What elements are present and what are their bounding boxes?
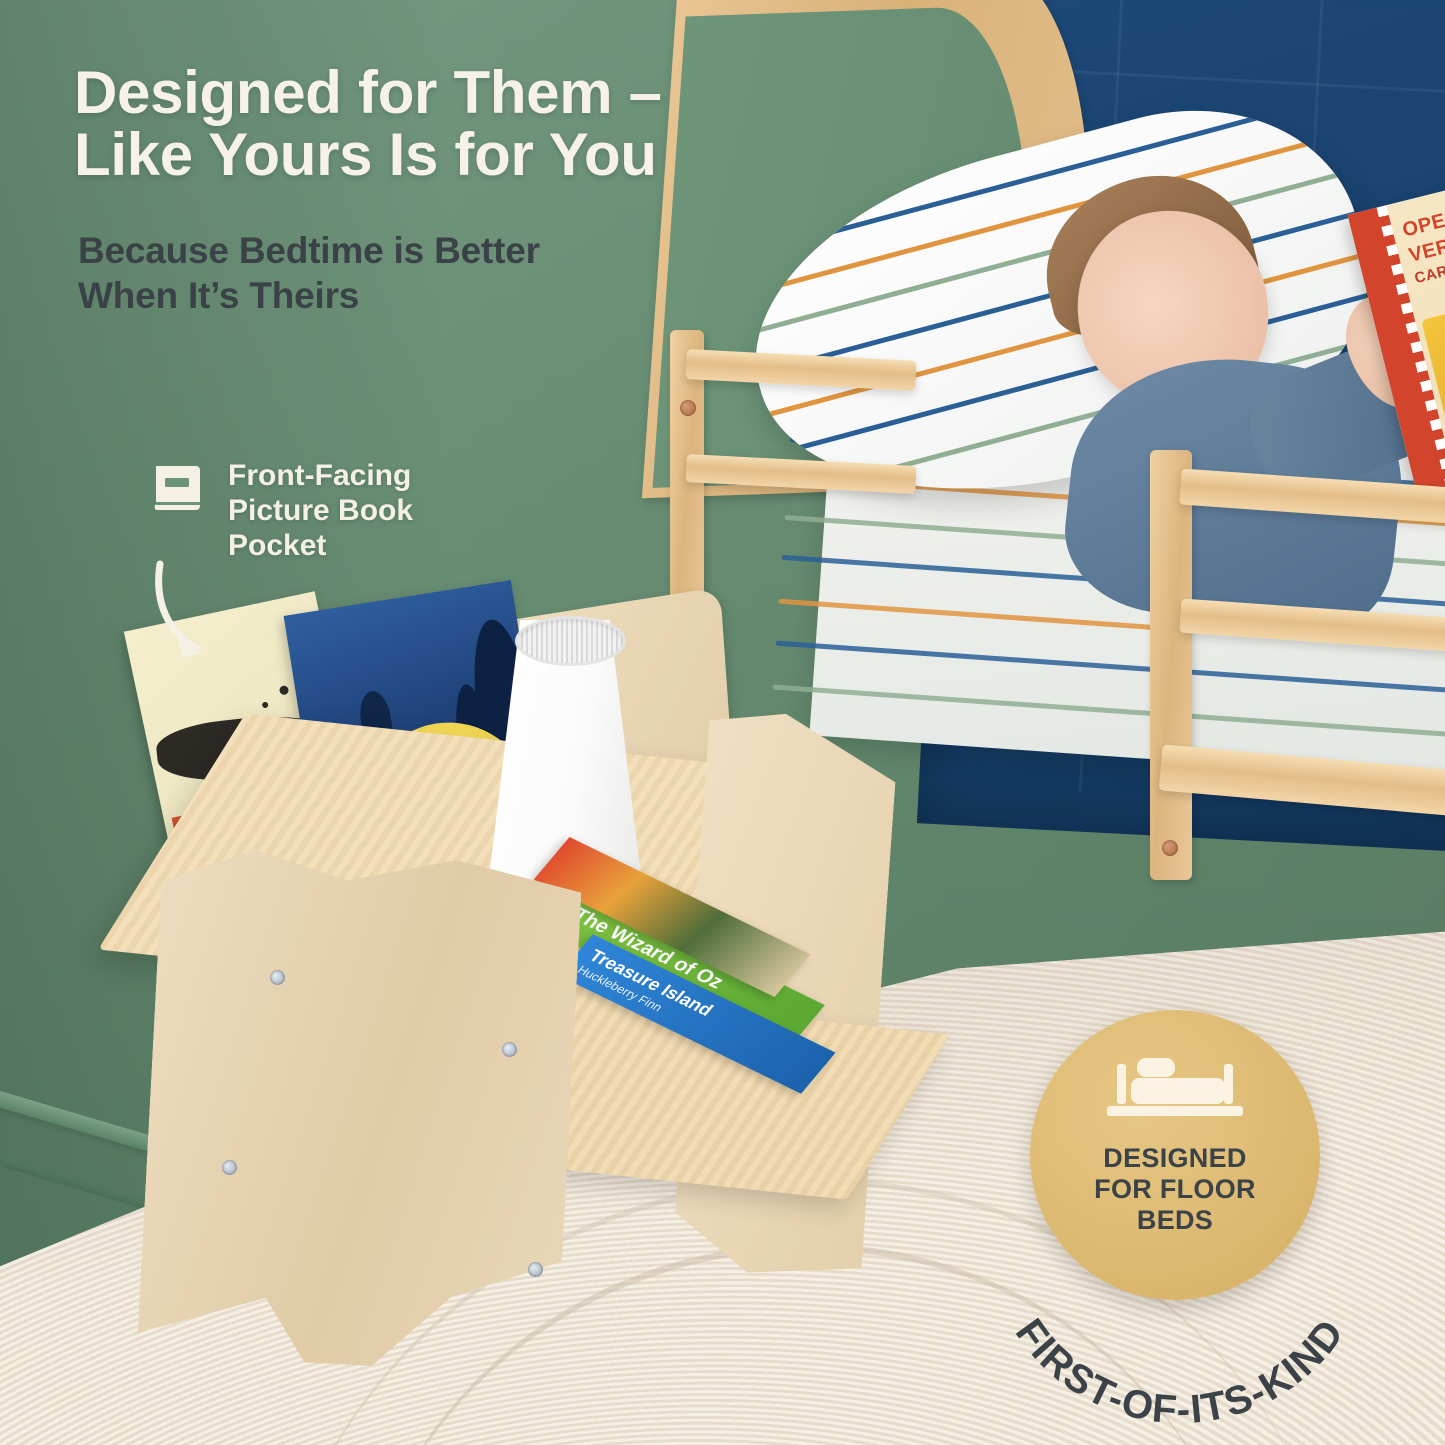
badge-line-1: DESIGNED <box>1094 1143 1256 1174</box>
book-icon <box>148 458 210 525</box>
bed-screw-right <box>1162 840 1178 856</box>
subheadline-line-2: When It’s Theirs <box>78 273 718 318</box>
callout-line-2: Picture Book <box>228 494 413 527</box>
badge-arc-textpath: FIRST-OF-ITS-KIND <box>1007 1311 1353 1432</box>
feature-callout: Front-Facing Picture Book Pocket <box>148 458 568 563</box>
nightstand-screw-4 <box>528 1262 543 1277</box>
status-badge: DESIGNED FOR FLOOR BEDS <box>1030 1010 1320 1300</box>
headline-line-2: Like Yours Is for You <box>74 124 834 186</box>
marketing-image: OPEN VERY CAREFULLY <box>0 0 1445 1445</box>
nightstand: FULL MOON The Wizard of Oz Treasure Isla… <box>130 590 890 1420</box>
callout-line-1: Front-Facing <box>228 459 411 492</box>
badge-line-3: BEDS <box>1094 1205 1256 1236</box>
nightstand-screw-2 <box>502 1042 517 1057</box>
curved-arrow-down-icon <box>150 556 270 666</box>
nightstand-screw-3 <box>222 1160 237 1175</box>
headline-line-1: Designed for Them – <box>74 62 834 124</box>
badge-label: DESIGNED FOR FLOOR BEDS <box>1094 1143 1256 1236</box>
floor-bed-icon <box>1107 1048 1243 1127</box>
badge-arc-label: FIRST-OF-ITS-KIND <box>1007 1311 1353 1432</box>
callout-label: Front-Facing Picture Book Pocket <box>228 458 413 563</box>
badge-line-2: FOR FLOOR <box>1094 1174 1256 1205</box>
page-subtitle: Because Bedtime is Better When It’s Thei… <box>78 228 718 318</box>
nightstand-left-panel <box>137 834 584 1375</box>
nightstand-screw-1 <box>270 970 285 985</box>
page-title: Designed for Them – Like Yours Is for Yo… <box>74 62 834 186</box>
subheadline-line-1: Because Bedtime is Better <box>78 228 718 273</box>
bed-rail-post-right <box>1150 450 1192 880</box>
bed-screw-left <box>680 400 696 416</box>
speaker-grille-icon <box>515 616 626 666</box>
